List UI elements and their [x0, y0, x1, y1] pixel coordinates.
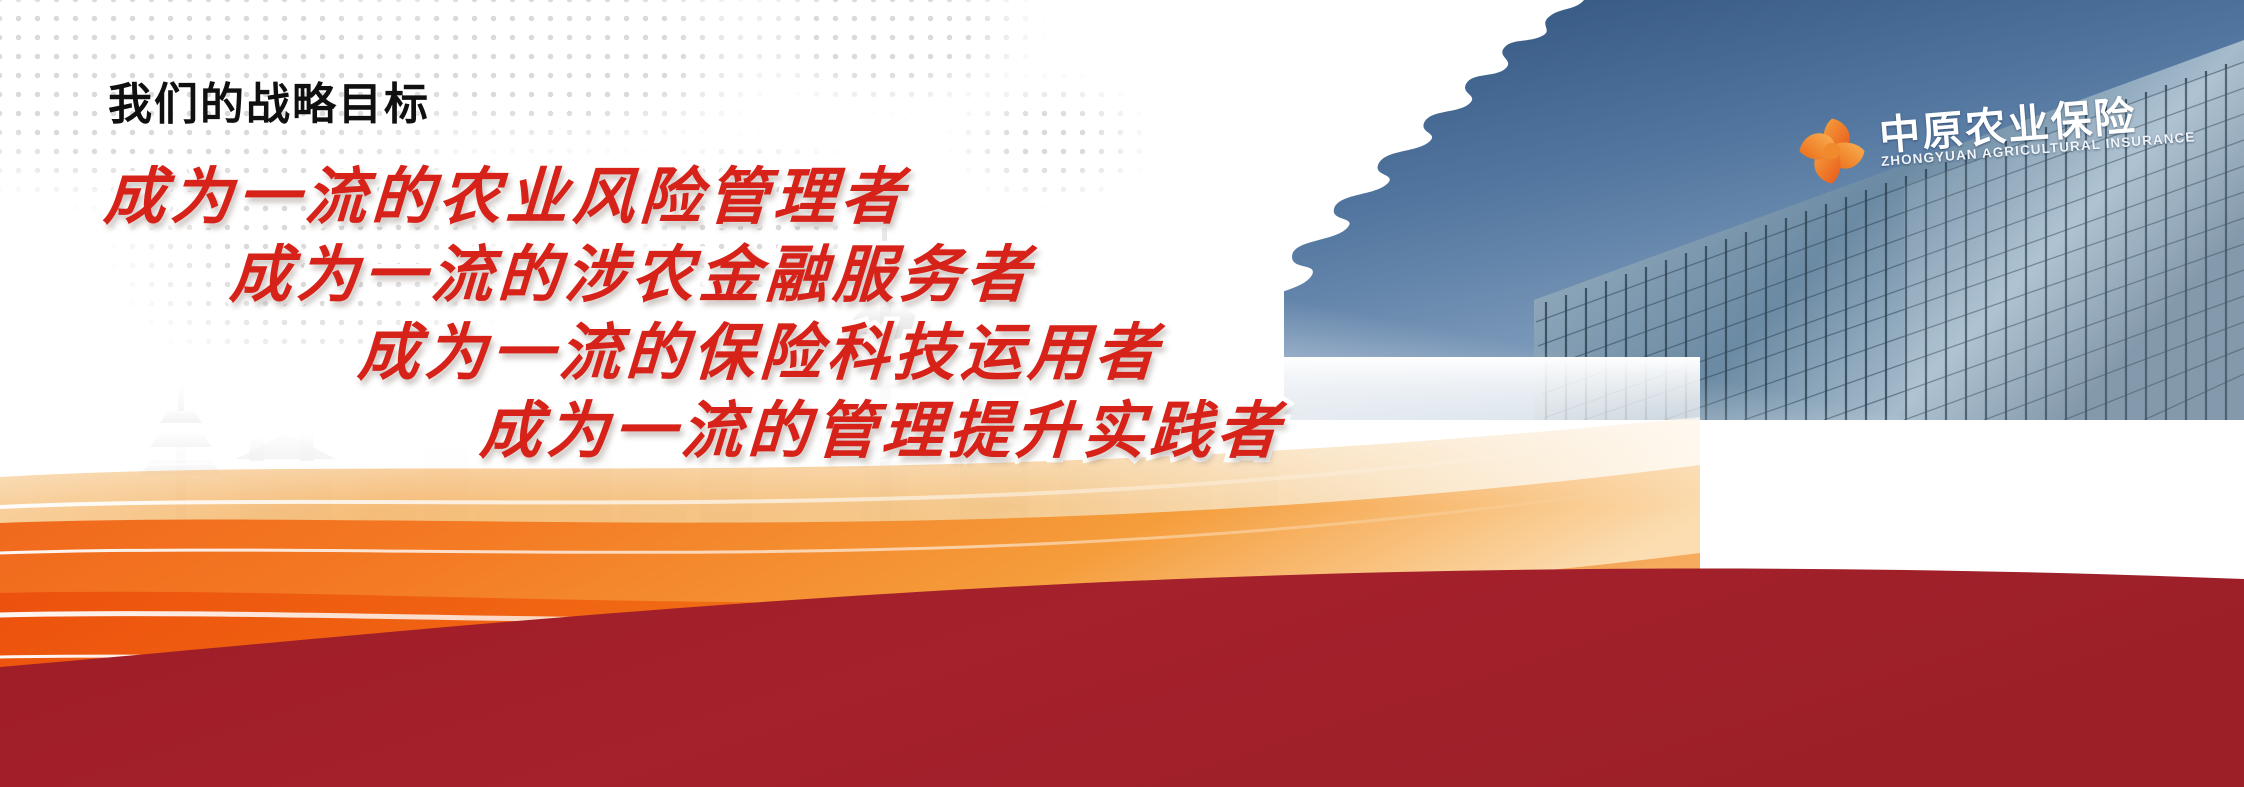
slogan-line-4: 成为一流的管理提升实践者	[478, 380, 1287, 470]
strategy-goals-banner: 我们的战略目标 成为一流的农业风险管理者 成为一流的涉农金融服务者 成为一流的保…	[0, 0, 2244, 787]
orange-petal-emblem-icon	[1795, 114, 1869, 188]
banner-text-block: 我们的战略目标 成为一流的农业风险管理者 成为一流的涉农金融服务者 成为一流的保…	[0, 0, 1450, 620]
page-title: 我们的战略目标	[108, 68, 430, 132]
slogan-line-2: 成为一流的涉农金融服务者	[228, 224, 1037, 314]
slogan-line-3: 成为一流的保险科技运用者	[356, 302, 1165, 392]
slogan-line-1: 成为一流的农业风险管理者	[102, 146, 911, 236]
company-logo: 中原农业保险 ZHONGYUAN AGRICULTURAL INSURANCE	[1795, 106, 2095, 198]
